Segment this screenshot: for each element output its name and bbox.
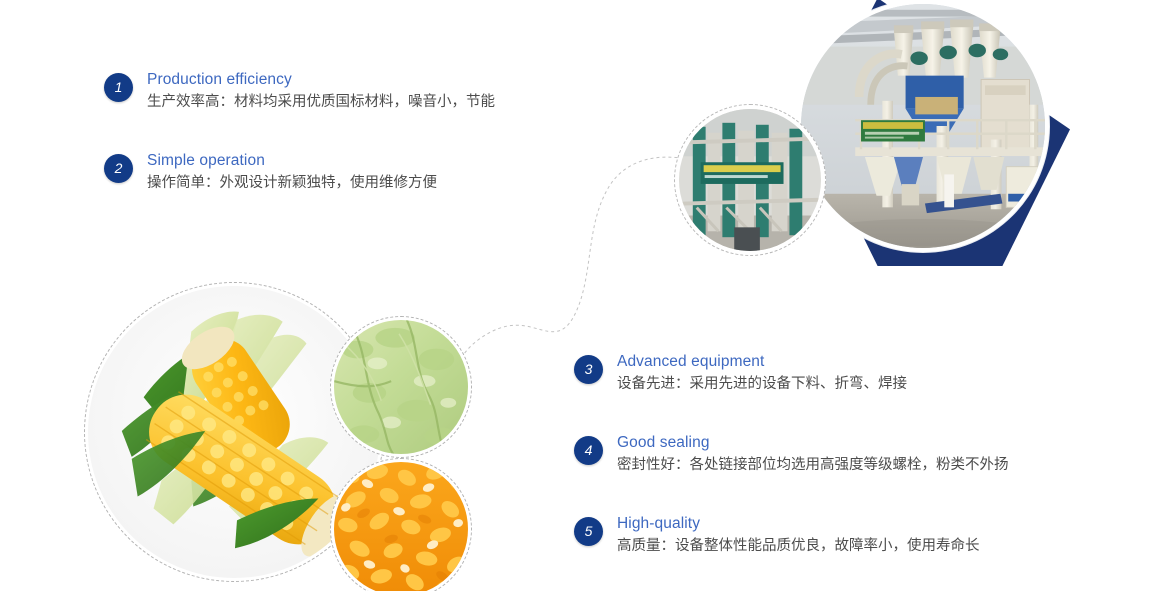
mill-photo-main <box>797 0 1049 252</box>
feature-item-4[interactable]: 4 Good sealing 密封性好：各处链接部位均选用高强度等级螺栓，粉类不… <box>574 433 1074 476</box>
feature-badge-3: 3 <box>574 355 603 384</box>
mill-photo-secondary-image <box>679 109 821 251</box>
feature-badge-5: 5 <box>574 517 603 546</box>
feature-title-5: High-quality <box>617 514 980 534</box>
feature-text-5: High-quality 高质量：设备整体性能品质优良，故障率小，使用寿命长 <box>617 514 980 557</box>
corn-paste-photo-ring <box>330 316 472 458</box>
corn-paste-photo-image <box>334 320 468 454</box>
feature-badge-1: 1 <box>104 73 133 102</box>
feature-text-3: Advanced equipment 设备先进：采用先进的设备下料、折弯、焊接 <box>617 352 907 395</box>
product-photo-cluster <box>84 282 484 591</box>
feature-desc-5: 高质量：设备整体性能品质优良，故障率小，使用寿命长 <box>617 535 980 557</box>
feature-desc-3: 设备先进：采用先进的设备下料、折弯、焊接 <box>617 373 907 395</box>
feature-title-4: Good sealing <box>617 433 1009 453</box>
feature-item-2[interactable]: 2 Simple operation 操作简单：外观设计新颖独特，使用维修方便 <box>104 151 574 194</box>
feature-title-3: Advanced equipment <box>617 352 907 372</box>
feature-item-3[interactable]: 3 Advanced equipment 设备先进：采用先进的设备下料、折弯、焊… <box>574 352 1074 395</box>
feature-highlights-banner: 1 Production efficiency 生产效率高：材料均采用优质国标材… <box>0 0 1154 591</box>
feature-text-1: Production efficiency 生产效率高：材料均采用优质国标材料，… <box>147 70 495 113</box>
equipment-photo-cluster <box>660 0 1080 284</box>
feature-desc-4: 密封性好：各处链接部位均选用高强度等级螺栓，粉类不外扬 <box>617 454 1009 476</box>
feature-text-2: Simple operation 操作简单：外观设计新颖独特，使用维修方便 <box>147 151 437 194</box>
corn-grits-photo-image <box>334 462 468 591</box>
feature-list-top: 1 Production efficiency 生产效率高：材料均采用优质国标材… <box>104 70 574 194</box>
mill-photo-main-image <box>801 4 1045 248</box>
feature-text-4: Good sealing 密封性好：各处链接部位均选用高强度等级螺栓，粉类不外扬 <box>617 433 1009 476</box>
corn-grits-photo-ring <box>330 458 472 591</box>
feature-list-bottom: 3 Advanced equipment 设备先进：采用先进的设备下料、折弯、焊… <box>574 352 1074 557</box>
feature-desc-2: 操作简单：外观设计新颖独特，使用维修方便 <box>147 172 437 194</box>
feature-title-1: Production efficiency <box>147 70 495 90</box>
feature-item-5[interactable]: 5 High-quality 高质量：设备整体性能品质优良，故障率小，使用寿命长 <box>574 514 1074 557</box>
feature-title-2: Simple operation <box>147 151 437 171</box>
feature-desc-1: 生产效率高：材料均采用优质国标材料，噪音小，节能 <box>147 91 495 113</box>
mill-photo-secondary <box>674 104 826 256</box>
feature-item-1[interactable]: 1 Production efficiency 生产效率高：材料均采用优质国标材… <box>104 70 574 113</box>
feature-badge-2: 2 <box>104 154 133 183</box>
feature-badge-4: 4 <box>574 436 603 465</box>
